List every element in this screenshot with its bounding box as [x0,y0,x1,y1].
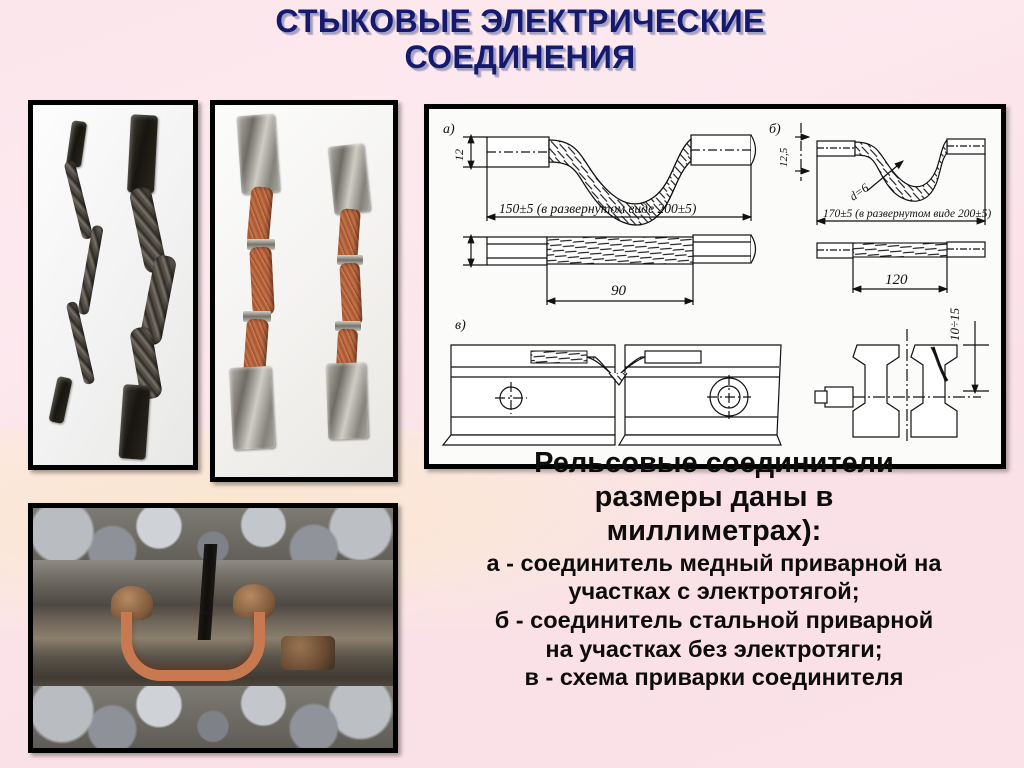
copper-rope-right-2 [339,263,362,326]
steel-connectors-photo [28,100,198,470]
copper-rope-left-1 [247,186,274,246]
dim-b-length: 170±5 (в развернутом виде 200±5) [823,208,991,220]
copper-clamp-right-top [328,143,371,214]
copper-clamp-right-bottom [326,362,369,439]
dim-b-base: 120 [885,272,908,288]
caption-line-2: размеры даны в [406,481,1022,515]
caption-line-5: участках с электротягой; [406,577,1022,606]
slide-root: СТЫКОВЫЕ ЭЛЕКТРИЧЕСКИЕ СОЕДИНЕНИЯ [0,0,1024,768]
dim-a-height: 12 [452,149,466,161]
copper-clamp-left-bottom [229,366,275,450]
page-title: СТЫКОВЫЕ ЭЛЕКТРИЧЕСКИЕ СОЕДИНЕНИЯ [140,4,900,76]
steel-terminal-right-top [127,114,158,193]
copper-rope-right-1 [337,208,361,261]
dim-b-diameter: d=6 [847,180,872,203]
caption-line-8: в - схема приварки соединителя [406,663,1022,692]
rail-connector-technical-drawing: а) 12 150±5 (в развернутом виде 200± [424,104,1006,469]
rail-joint-photo [28,503,398,753]
steel-cable-left-1 [63,160,93,240]
copper-connectors-photo [210,100,398,482]
caption-line-1: Рельсовые соединители [406,447,1022,481]
drawing-label-a: а) [443,122,455,137]
steel-terminal-right-bottom [118,384,150,460]
caption-line-3: миллиметрах): [406,515,1022,549]
dim-a-length: 150±5 (в развернутом виде 200±5) [499,201,697,216]
ballast-bottom [33,686,393,748]
copper-photo-canvas [215,105,393,477]
dim-v-gap: 10÷15 [947,307,962,341]
dim-b-height: 12,5 [778,147,790,167]
copper-bond-strap [121,612,265,681]
technical-drawing-svg: а) 12 150±5 (в развернутом виде 200± [429,109,1001,464]
caption-line-6: б - соединитель стальной приварной [406,606,1022,635]
rail-photo-canvas [33,508,393,748]
copper-clamp-left-top [236,114,279,194]
steel-photo-canvas [33,105,193,465]
caption-line-4: а - соединитель медный приварной на [406,549,1022,578]
steel-terminal-left-bottom [48,376,72,424]
rail-joint-bolt [281,636,335,670]
copper-rope-left-2 [249,246,275,315]
drawing-label-v: в) [455,318,466,333]
caption-line-7: на участках без электротяги; [406,635,1022,664]
dim-a-base: 90 [611,283,627,299]
drawing-label-b: б) [769,122,781,137]
steel-cable-left-2 [77,225,103,316]
caption-block: Рельсовые соединители размеры даны в мил… [406,447,1022,692]
